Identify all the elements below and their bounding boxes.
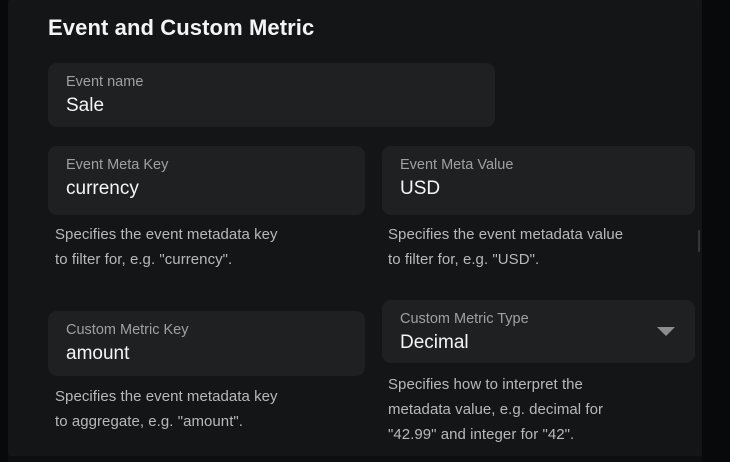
- helper-line: to filter for, e.g. "currency".: [55, 247, 375, 272]
- custom-metric-key-input[interactable]: amount: [66, 341, 129, 367]
- page-title: Event and Custom Metric: [48, 14, 314, 42]
- custom-metric-type-helper-text: Specifies how to interpret the metadata …: [388, 372, 702, 447]
- custom-metric-key-field[interactable]: Custom Metric Key amount: [48, 311, 365, 376]
- helper-line: Specifies the event metadata value: [388, 222, 702, 247]
- helper-line: "42.99" and integer for "42".: [388, 422, 702, 447]
- event-meta-key-input[interactable]: currency: [66, 176, 139, 202]
- helper-line: Specifies how to interpret the: [388, 372, 702, 397]
- app-screen: Event and Custom Metric Event name Sale …: [0, 0, 730, 462]
- helper-line: Specifies the event metadata key: [55, 384, 375, 409]
- event-name-input[interactable]: Sale: [66, 93, 104, 119]
- custom-metric-type-value[interactable]: Decimal: [400, 330, 469, 356]
- custom-metric-type-select[interactable]: Custom Metric Type Decimal: [382, 300, 695, 363]
- event-meta-value-helper-text: Specifies the event metadata value to fi…: [388, 222, 702, 272]
- custom-metric-key-helper-text: Specifies the event metadata key to aggr…: [55, 384, 375, 434]
- event-meta-key-helper-text: Specifies the event metadata key to filt…: [55, 222, 375, 272]
- helper-line: metadata value, e.g. decimal for: [388, 397, 702, 422]
- scrollbar-thumb[interactable]: [698, 230, 700, 252]
- event-meta-value-label: Event Meta Value: [400, 156, 513, 175]
- event-meta-value-field[interactable]: Event Meta Value USD: [382, 146, 695, 215]
- custom-metric-type-label: Custom Metric Type: [400, 310, 529, 329]
- chevron-down-icon[interactable]: [657, 327, 675, 336]
- event-meta-value-input[interactable]: USD: [400, 176, 440, 202]
- custom-metric-key-label: Custom Metric Key: [66, 321, 188, 340]
- event-name-label: Event name: [66, 73, 143, 92]
- event-meta-key-field[interactable]: Event Meta Key currency: [48, 146, 365, 215]
- helper-line: Specifies the event metadata key: [55, 222, 375, 247]
- event-name-field[interactable]: Event name Sale: [48, 63, 495, 127]
- panel-bottom-edge: [8, 456, 702, 462]
- helper-line: to filter for, e.g. "USD".: [388, 247, 702, 272]
- helper-line: to aggregate, e.g. "amount".: [55, 409, 375, 434]
- event-meta-key-label: Event Meta Key: [66, 156, 168, 175]
- event-custom-metric-panel: Event and Custom Metric Event name Sale …: [8, 0, 702, 456]
